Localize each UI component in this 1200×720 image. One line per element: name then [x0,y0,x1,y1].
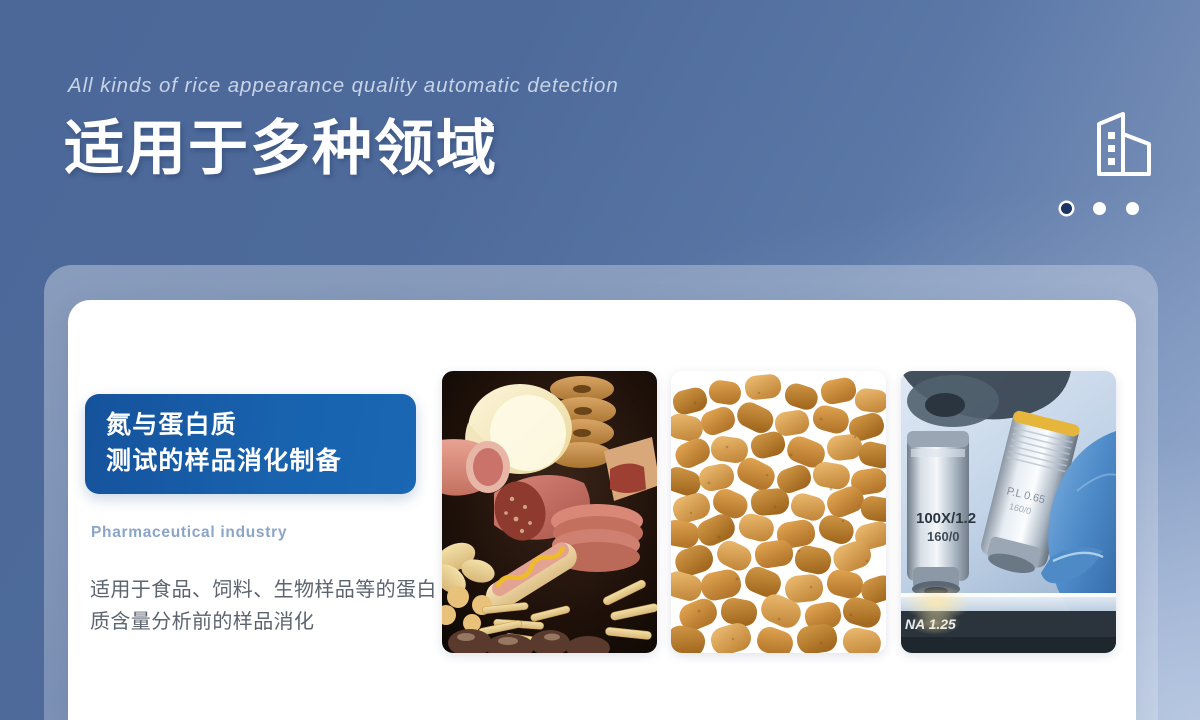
carousel-dot-2[interactable] [1093,202,1106,215]
building-icon [1093,110,1155,178]
svg-text:100X/1.2: 100X/1.2 [916,510,976,527]
description-text: 适用于食品、饲料、生物样品等的蛋白质含量分析前的样品消化 [90,574,440,639]
page-title: 适用于多种领域 [64,116,498,182]
processed-food-photo [442,371,657,653]
industry-subtitle: Pharmaceutical industry [91,524,287,542]
carousel-dot-3[interactable] [1126,202,1139,215]
banner-header: All kinds of rice appearance quality aut… [0,0,1200,265]
category-badge-line-1: 氮与蛋白质 [106,408,396,444]
microscope-objective-photo: 100X/1.2 160/0 P.L 0.65 160/0 [901,371,1116,653]
category-badge-line-2: 测试的样品消化制备 [106,444,396,480]
carousel-dots[interactable] [1060,202,1139,215]
carousel-dot-1[interactable] [1061,203,1072,214]
promo-banner: All kinds of rice appearance quality aut… [0,0,1200,720]
pet-food-kibble-photo [671,371,886,653]
svg-text:160/0: 160/0 [927,529,960,544]
category-badge[interactable]: 氮与蛋白质 测试的样品消化制备 [85,394,416,494]
eyebrow-text: All kinds of rice appearance quality aut… [68,74,619,98]
